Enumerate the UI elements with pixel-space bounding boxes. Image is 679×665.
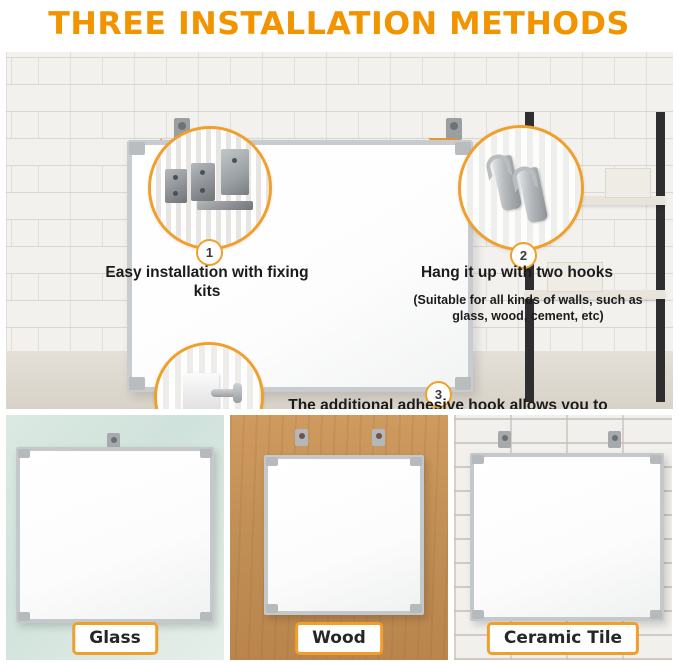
page-title: THREE INSTALLATION METHODS (49, 6, 630, 42)
tile-board-corner-tr (650, 455, 662, 464)
wall-hook-right-icon (446, 118, 462, 140)
adhesive-hook-tip (233, 383, 242, 403)
surface-label-ceramic-tile: Ceramic Tile (487, 622, 639, 655)
surface-label-wood: Wood (295, 622, 383, 655)
wood-mount-hook-right (372, 429, 385, 446)
callout-1-fixing-kit (148, 126, 272, 250)
surface-panel-ceramic-tile: Ceramic Tile (454, 415, 672, 660)
page-title-bar: THREE INSTALLATION METHODS (0, 0, 679, 48)
whiteboard-corner-bottom-right (455, 377, 471, 390)
mounting-bracket-icon (165, 169, 187, 203)
glass-board-corner-tl (18, 449, 30, 458)
callout-caption-3: The additional adhesive hook allows you … (268, 397, 628, 409)
wood-board-corner-tl (266, 457, 278, 466)
bracket-rail-icon (197, 201, 253, 210)
whiteboard-corner-bottom-left (129, 377, 145, 390)
mounting-bracket-icon-2 (191, 163, 215, 201)
wood-board-corner-bl (266, 604, 278, 613)
shelf-post-right (656, 112, 665, 402)
tile-board-corner-bl (472, 610, 484, 619)
glass-whiteboard (16, 447, 214, 623)
wood-board-corner-br (410, 604, 422, 613)
wood-board-corner-tr (410, 457, 422, 466)
callout-caption-2: Hang it up with two hooks (392, 264, 642, 283)
glass-board-corner-bl (18, 612, 30, 621)
tile-mount-hook-left (498, 431, 511, 448)
tile-board-corner-br (650, 610, 662, 619)
callout-badge-1: 1 (196, 239, 223, 266)
whiteboard-corner-top-left (129, 142, 145, 155)
hero-installation-scene: 1 2 3 Easy installation with fixing kits… (6, 52, 673, 409)
callout-3-adhesive-hook (154, 342, 264, 409)
wood-mount-hook-left (295, 429, 308, 446)
surface-panel-glass: Glass (6, 415, 224, 660)
tile-board-corner-tl (472, 455, 484, 464)
surface-panel-wood: Wood (230, 415, 448, 660)
glass-board-corner-br (200, 612, 212, 621)
surface-label-glass: Glass (72, 622, 158, 655)
tile-whiteboard (470, 453, 664, 621)
glass-board-corner-tr (200, 449, 212, 458)
surface-examples-row: Glass Wood Ceramic Tile (6, 415, 673, 660)
callout-2-hanging-hooks (458, 125, 584, 251)
tile-mount-hook-right (608, 431, 621, 448)
decor-box-upper (605, 168, 651, 198)
callout-caption-1: Easy installation with fixing kits (102, 264, 312, 302)
mounting-bracket-icon-3 (221, 149, 249, 195)
callout-subcaption-2: (Suitable for all kinds of walls, such a… (404, 292, 652, 325)
wood-whiteboard (264, 455, 424, 615)
